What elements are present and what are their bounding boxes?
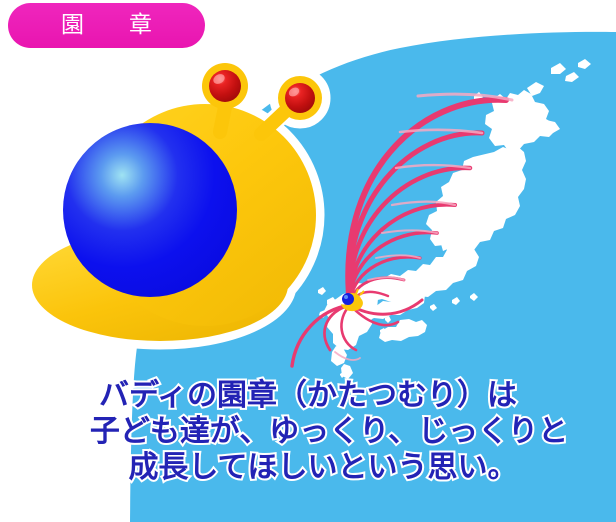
snail-shell <box>63 123 237 297</box>
section-title-badge: 園 章 <box>8 3 205 48</box>
logo-illustration-panel: 園 章 バディの園章（かたつむり）は 子ども達が、ゆっくり、じっくりと 成長して… <box>0 0 616 522</box>
snail-eye-right <box>278 76 322 120</box>
snail-logo <box>0 0 616 522</box>
snail-eye-left <box>202 63 248 109</box>
section-title-label: 園 章 <box>50 14 163 37</box>
